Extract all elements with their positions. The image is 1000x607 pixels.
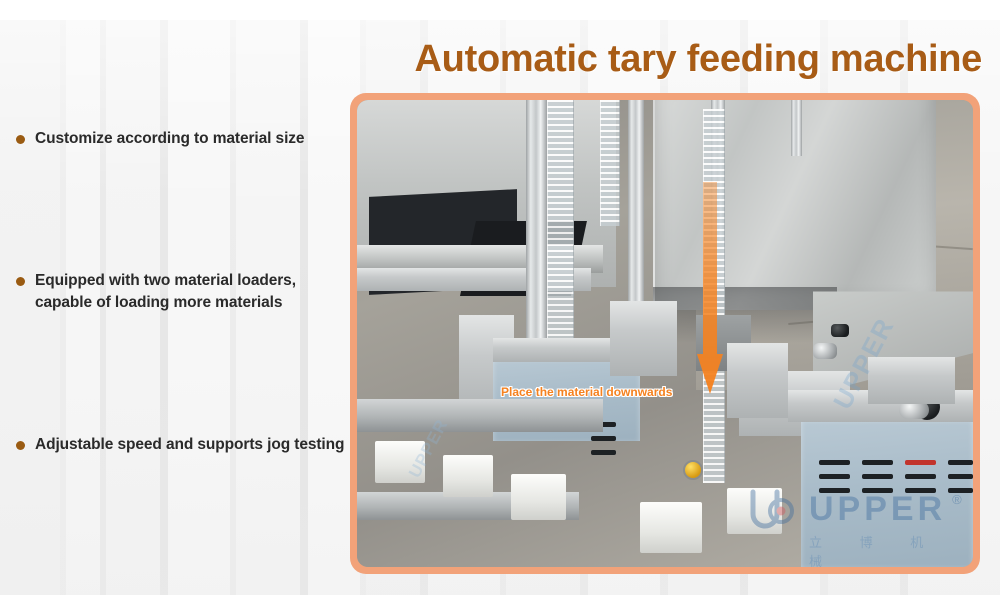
white-tray [640, 502, 702, 553]
white-tray [375, 441, 424, 483]
knob-bezel [899, 401, 929, 419]
feature-list: Customize according to material size Equ… [16, 128, 346, 456]
white-tray [727, 488, 782, 535]
perforated-box [727, 343, 789, 418]
sensor-block [831, 324, 849, 337]
list-item: Customize according to material size [16, 128, 346, 150]
frame-column [791, 100, 802, 156]
feature-label: Adjustable speed and supports jog testin… [35, 434, 344, 456]
page-title: Automatic tary feeding machine [415, 38, 982, 81]
photo-caption: Place the material downwards [501, 385, 672, 399]
bullet-dot-icon [16, 277, 25, 286]
emergency-button [683, 460, 703, 480]
bullet-dot-icon [16, 441, 25, 450]
list-item: Equipped with two material loaders, capa… [16, 270, 346, 314]
white-tray [443, 455, 492, 497]
panel-vent [819, 474, 850, 479]
feature-label: Equipped with two material loaders, capa… [35, 270, 346, 314]
panel-vent [819, 460, 850, 465]
panel-vent [948, 488, 973, 493]
steel-shelf [868, 357, 954, 404]
down-arrow-icon [697, 182, 723, 394]
slide-root: Automatic tary feeding machine Customize… [0, 0, 1000, 607]
photo-frame: UPPER UPPER UPPER ® 立 博 机 械 [350, 93, 980, 574]
photo-scene [357, 100, 973, 567]
bullet-dot-icon [16, 135, 25, 144]
panel-vent [819, 488, 850, 493]
conveyor-belt [357, 399, 603, 432]
panel-vent [905, 474, 936, 479]
tray-stack [600, 100, 620, 226]
panel-vent [905, 488, 936, 493]
panel-vent [591, 450, 616, 455]
panel-vent [862, 474, 893, 479]
panel-vent [948, 460, 973, 465]
panel-vent [948, 474, 973, 479]
machine-photo: UPPER UPPER UPPER ® 立 博 机 械 [357, 100, 973, 567]
perforated-box [610, 301, 678, 376]
list-item: Adjustable speed and supports jog testin… [16, 434, 346, 456]
panel-vent [591, 436, 616, 441]
panel-vent [862, 460, 893, 465]
panel-vent [862, 488, 893, 493]
feature-label: Customize according to material size [35, 128, 304, 150]
panel-vent-red [905, 460, 936, 465]
white-tray [511, 474, 566, 521]
cylinder-fitting [813, 343, 837, 359]
watermark-subtitle: 立 博 机 械 [809, 532, 973, 567]
